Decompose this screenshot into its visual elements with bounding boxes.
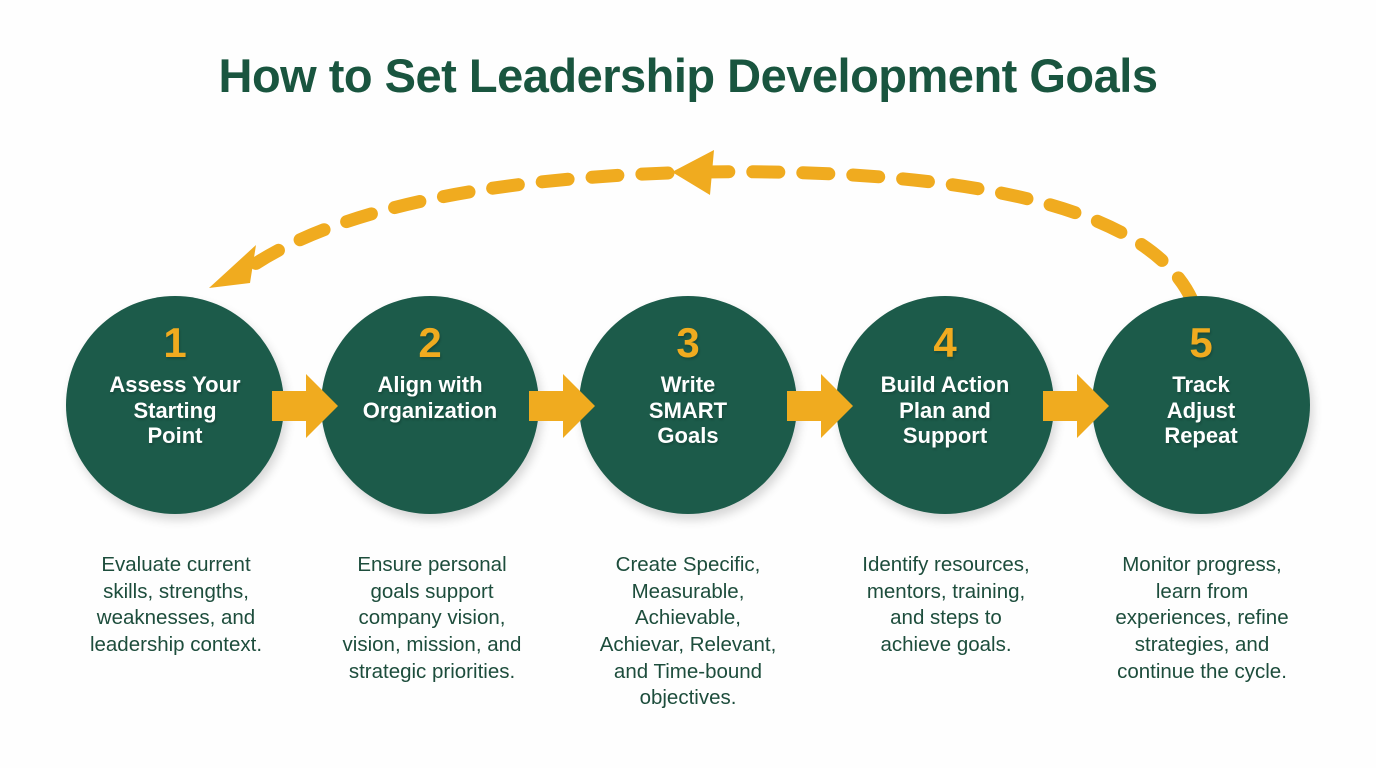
connector-arrow-1-to-2: [272, 372, 338, 440]
steps-row: 1 Assess Your Starting Point 2 Align wit…: [0, 296, 1376, 516]
step-5-description: Monitor progress, learn from experiences…: [1080, 552, 1324, 685]
step-5-label: Track Adjust Repeat: [1103, 372, 1299, 449]
step-4-circle[interactable]: 4 Build Action Plan and Support: [836, 296, 1054, 514]
arrow-right-icon: [272, 374, 338, 438]
step-1-number: 1: [163, 322, 186, 364]
step-3-label: Write SMART Goals: [590, 372, 786, 449]
step-2-circle[interactable]: 2 Align with Organization: [321, 296, 539, 514]
step-2-label: Align with Organization: [332, 372, 528, 423]
page-title: How to Set Leadership Development Goals: [0, 48, 1376, 103]
step-1-description: Evaluate current skills, strengths, weak…: [54, 552, 298, 659]
infographic-canvas: How to Set Leadership Development Goals …: [0, 0, 1376, 768]
cycle-arrowhead-middle: [672, 150, 714, 195]
arrow-right-icon: [529, 374, 595, 438]
step-3-number: 3: [676, 322, 699, 364]
connector-arrow-3-to-4: [787, 372, 853, 440]
step-2-description: Ensure personal goals support company vi…: [314, 552, 550, 685]
step-2-number: 2: [418, 322, 441, 364]
step-1-label: Assess Your Starting Point: [77, 372, 273, 449]
step-2[interactable]: 2 Align with Organization: [321, 296, 539, 514]
step-4-label: Build Action Plan and Support: [847, 372, 1043, 449]
arrow-right-icon: [1043, 374, 1109, 438]
step-3-circle[interactable]: 3 Write SMART Goals: [579, 296, 797, 514]
step-3-description: Create Specific, Measurable, Achievable,…: [568, 552, 808, 712]
step-4[interactable]: 4 Build Action Plan and Support: [836, 296, 1054, 514]
cycle-arc-left-segment: [252, 173, 668, 266]
step-5-number: 5: [1189, 322, 1212, 364]
step-1-circle[interactable]: 1 Assess Your Starting Point: [66, 296, 284, 514]
step-4-description: Identify resources, mentors, training, a…: [828, 552, 1064, 659]
cycle-arc-right-segment: [700, 172, 1192, 300]
connector-arrow-4-to-5: [1043, 372, 1109, 440]
connector-arrow-2-to-3: [529, 372, 595, 440]
cycle-arrowhead-end: [209, 245, 256, 288]
step-5[interactable]: 5 Track Adjust Repeat: [1092, 296, 1310, 514]
step-4-number: 4: [933, 322, 956, 364]
step-3[interactable]: 3 Write SMART Goals: [579, 296, 797, 514]
step-1[interactable]: 1 Assess Your Starting Point: [66, 296, 284, 514]
arrow-right-icon: [787, 374, 853, 438]
step-5-circle[interactable]: 5 Track Adjust Repeat: [1092, 296, 1310, 514]
